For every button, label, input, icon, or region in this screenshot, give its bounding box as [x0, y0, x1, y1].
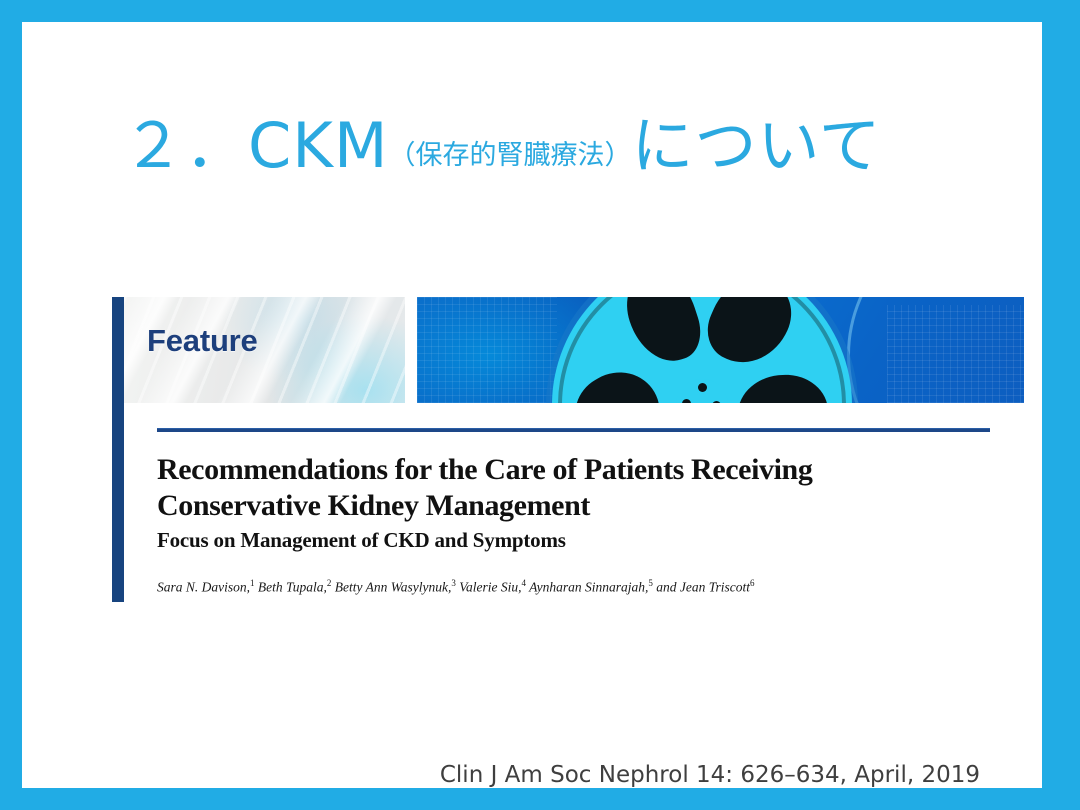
author-affiliation-marker: 5: [648, 578, 653, 588]
title-number: ２．: [122, 109, 248, 182]
article-author-list: Sara N. Davison,1 Beth Tupala,2 Betty An…: [157, 578, 987, 596]
banner-film-reel-photo: [417, 297, 1024, 403]
author-name: Aynharan Sinnarajah,: [529, 580, 648, 595]
citation-text: Clin J Am Soc Nephrol 14: 626–634, April…: [440, 762, 980, 788]
title-paren-japanese: （保存的腎臓療法）: [388, 140, 631, 171]
author-affiliation-marker: 4: [522, 578, 527, 588]
author-name: and Jean Triscott: [656, 580, 750, 595]
journal-feature-banner: Feature: [124, 297, 1024, 403]
author-affiliation-marker: 1: [250, 578, 255, 588]
article-subtitle: Focus on Management of CKD and Symptoms: [157, 528, 957, 553]
journal-article-clipping: Feature: [112, 297, 1024, 602]
author-name: Sara N. Davison,: [157, 580, 250, 595]
author-name: Beth Tupala,: [258, 580, 327, 595]
title-acronym: CKM: [248, 109, 388, 182]
author-affiliation-marker: 3: [451, 578, 456, 588]
film-reel-pin: [682, 399, 691, 403]
banner-feature-label: Feature: [147, 323, 258, 359]
banner-digital-grid: [417, 297, 557, 403]
article-spine-bar: [112, 297, 124, 602]
film-reel-pin: [698, 383, 707, 392]
author-name: Valerie Siu,: [459, 580, 521, 595]
film-reel-icon: [552, 297, 852, 403]
film-reel-pin: [712, 401, 721, 403]
author-affiliation-marker: 6: [750, 578, 755, 588]
slide-title: ２．CKM（保存的腎臓療法）について: [122, 115, 1002, 205]
title-suffix-japanese: について: [631, 109, 881, 182]
article-divider-rule: [157, 428, 990, 432]
banner-digital-grid: [887, 305, 1024, 403]
author-affiliation-marker: 2: [327, 578, 332, 588]
slide-canvas: ２．CKM（保存的腎臓療法）について Feature: [22, 22, 1042, 788]
article-title-line-2: Conservative Kidney Management: [157, 488, 957, 524]
slide: ２．CKM（保存的腎臓療法）について Feature: [0, 0, 1080, 810]
article-title-line-1: Recommendations for the Care of Patients…: [157, 452, 957, 488]
author-name: Betty Ann Wasylynuk,: [335, 580, 452, 595]
article-title: Recommendations for the Care of Patients…: [157, 452, 957, 524]
